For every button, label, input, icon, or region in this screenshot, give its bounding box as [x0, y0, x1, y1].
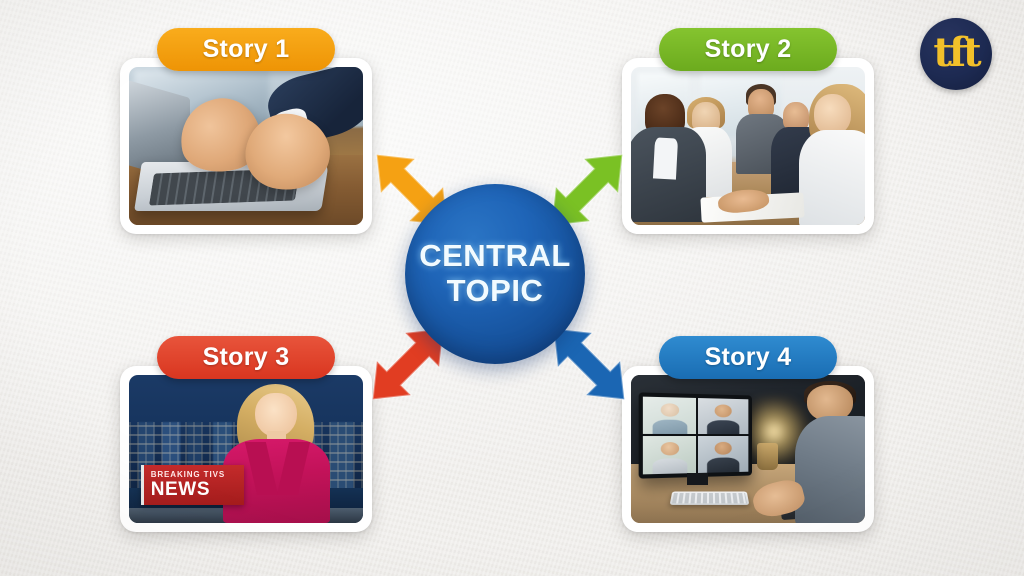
story-2-badge[interactable]: Story 2 [659, 28, 837, 71]
video-conference-illustration [631, 375, 865, 523]
central-topic-line-1: CENTRAL [419, 239, 571, 274]
tft-logo-mark: tft [933, 33, 978, 73]
story-4-photo [631, 375, 865, 523]
video-tile-2 [699, 398, 749, 434]
breaking-news-headline: NEWS [151, 480, 244, 499]
monitor [639, 393, 752, 479]
infographic-canvas: Story 1 [0, 0, 1024, 576]
video-tile-1 [643, 397, 696, 435]
story-4-badge-label: Story 4 [705, 343, 792, 372]
tft-logo[interactable]: tft [920, 18, 992, 90]
story-3-badge-label: Story 3 [203, 343, 290, 372]
story-2-photo [631, 67, 865, 225]
story-1-badge[interactable]: Story 1 [157, 28, 335, 71]
story-card-3[interactable]: BREAKING TIVS NEWS [120, 366, 372, 532]
central-topic-circle[interactable]: CENTRAL TOPIC [405, 184, 585, 364]
story-4-badge[interactable]: Story 4 [659, 336, 837, 379]
story-1-badge-label: Story 1 [203, 35, 290, 64]
breaking-news-banner: BREAKING TIVS NEWS [141, 465, 244, 505]
news-anchor-illustration: BREAKING TIVS NEWS [129, 375, 363, 523]
story-card-1[interactable] [120, 58, 372, 234]
story-card-4[interactable] [622, 366, 874, 532]
story-2-badge-label: Story 2 [705, 35, 792, 64]
story-3-photo: BREAKING TIVS NEWS [129, 375, 363, 523]
video-tile-4 [699, 437, 749, 473]
story-card-2[interactable] [622, 58, 874, 234]
video-tile-3 [643, 437, 696, 475]
story-3-badge[interactable]: Story 3 [157, 336, 335, 379]
central-topic-line-2: TOPIC [447, 274, 544, 309]
business-meeting-illustration [631, 67, 865, 225]
laptop-typing-illustration [129, 67, 363, 225]
story-1-photo [129, 67, 363, 225]
